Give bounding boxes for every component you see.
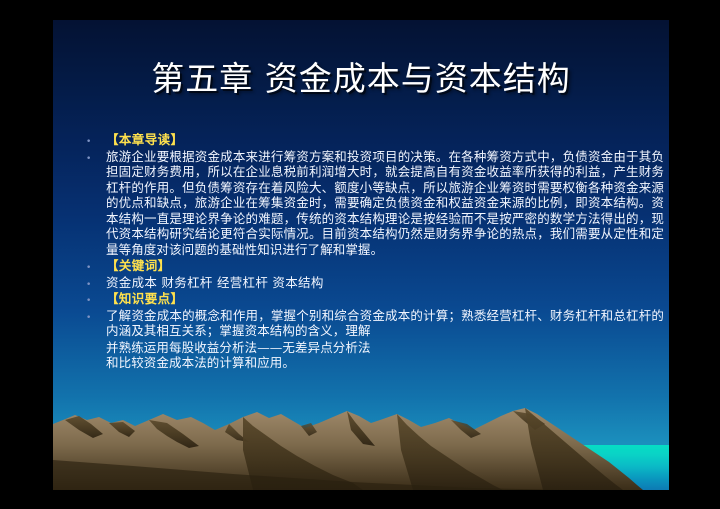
guide-body-text: 旅游企业要根据资金成本来进行筹资方案和投资项目的决策。在各种筹资方式中，负债资金…: [106, 149, 664, 258]
keywords-heading-text: 【关键词】: [106, 258, 664, 274]
bullet-icon: •: [86, 291, 106, 306]
bullet-row-keywords-body: • 资金成本 财务杠杆 经营杠杆 资本结构: [86, 275, 664, 291]
bullet-icon: •: [86, 149, 106, 164]
keypoints-line3-text: 和比较资金成本法的计算和应用。: [106, 355, 664, 371]
bullet-row-keywords-heading: • 【关键词】: [86, 258, 664, 274]
bullet-row-keypoints-heading: • 【知识要点】: [86, 291, 664, 307]
screen-background: 第五章 资金成本与资本结构 • 【本章导读】 • 旅游企业要根据资金成本来进行筹…: [0, 0, 720, 509]
bullet-row-guide-body: • 旅游企业要根据资金成本来进行筹资方案和投资项目的决策。在各种筹资方式中，负债…: [86, 149, 664, 258]
bullet-icon: •: [86, 275, 106, 290]
presentation-slide: 第五章 资金成本与资本结构 • 【本章导读】 • 旅游企业要根据资金成本来进行筹…: [53, 20, 669, 490]
guide-heading-text: 【本章导读】: [106, 132, 664, 148]
keypoints-body-text: 了解资金成本的概念和作用，掌握个别和综合资金成本的计算；熟悉经营杠杆、财务杠杆和…: [106, 308, 664, 339]
bullet-row-keypoints-body: • 了解资金成本的概念和作用，掌握个别和综合资金成本的计算；熟悉经营杠杆、财务杠…: [86, 308, 664, 339]
slide-title: 第五章 资金成本与资本结构: [53, 52, 669, 100]
bullet-row-guide-heading: • 【本章导读】: [86, 132, 664, 148]
slide-body: • 【本章导读】 • 旅游企业要根据资金成本来进行筹资方案和投资项目的决策。在各…: [86, 132, 664, 371]
keywords-body-text: 资金成本 财务杠杆 经营杠杆 资本结构: [106, 275, 664, 291]
bullet-icon: •: [86, 308, 106, 323]
keypoints-heading-text: 【知识要点】: [106, 291, 664, 307]
keypoints-line2-text: 并熟练运用每股收益分析法——无差异点分析法: [106, 340, 664, 356]
mountain-range-graphic: [53, 390, 669, 490]
bullet-icon: •: [86, 132, 106, 147]
bullet-icon: •: [86, 258, 106, 273]
